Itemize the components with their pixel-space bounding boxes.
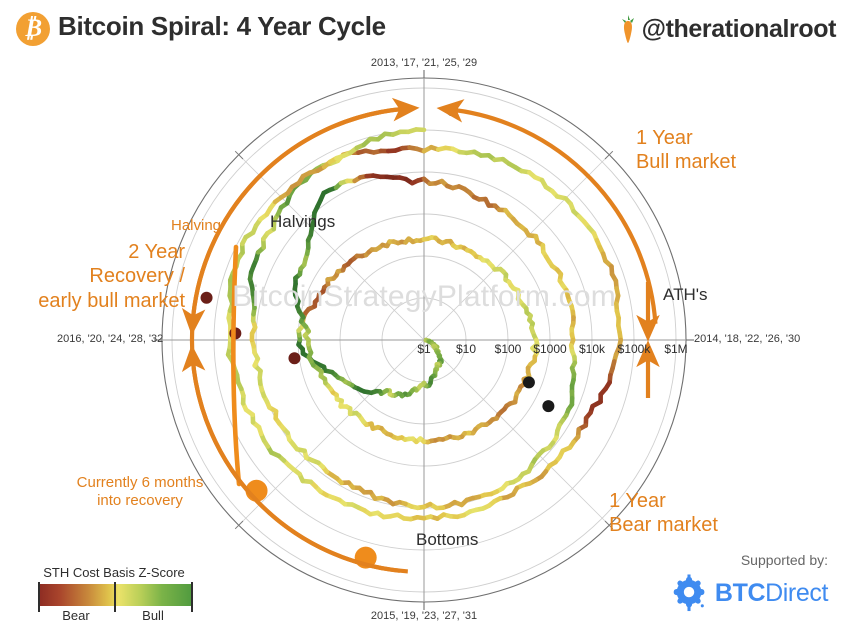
radial-tick-1M: $1M (664, 342, 687, 356)
angular-tick-2013: 2013, '17, '21, '25, '29 (371, 57, 477, 70)
annotation-bear-line1: 1 Year (609, 489, 718, 513)
radial-tick-100k: $100k (618, 342, 651, 356)
color-legend: STH Cost Basis Z-Score Bear Bull (30, 565, 230, 620)
supported-by-block: Supported by: BTCDirect (670, 552, 828, 612)
radial-tick-100: $100 (495, 342, 522, 356)
annotation-bull-line1: 1 Year (636, 126, 736, 150)
btcdirect-icon (670, 574, 708, 612)
annotation-bull-line2: Bull market (636, 150, 736, 174)
marker-halving-3 (523, 376, 535, 388)
legend-tick-left (38, 582, 40, 612)
angular-tick-2014: 2014, '18, '22, '26, '30 (694, 333, 800, 346)
annotation-bull-market: 1 Year Bull market (636, 126, 736, 175)
annotation-current-line2: into recovery (60, 492, 220, 510)
angular-tick-2015: 2015, '19, '23, '27, '31 (371, 610, 477, 623)
legend-label-bear: Bear (62, 608, 89, 623)
legend-title: STH Cost Basis Z-Score (34, 565, 194, 580)
radial-tick-10: $10 (456, 342, 476, 356)
angular-tick-2016: 2016, '20, '24, '28, '32 (57, 333, 163, 346)
marker-halving-2 (542, 400, 554, 412)
annotation-recovery-line2: Recovery / (10, 264, 185, 288)
legend-label-bull: Bull (142, 608, 164, 623)
label-halvings: Halvings (270, 212, 335, 233)
annotation-current-line1: Currently 6 months (60, 474, 220, 492)
halving-to-current-connector (233, 247, 239, 484)
marker-bottom-3 (201, 292, 213, 304)
legend-tick-mid (114, 582, 116, 612)
annotation-halving: Halving (171, 217, 221, 235)
legend-gradient-wrap: Bear Bull (38, 584, 193, 620)
legend-tick-right (191, 582, 193, 612)
btcdirect-bold: BTC (715, 579, 765, 607)
supported-by-label: Supported by: (670, 552, 828, 568)
radial-tick-10k: $10k (579, 342, 605, 356)
marker-bottom-1 (288, 352, 300, 364)
annotation-bear-market: 1 Year Bear market (609, 489, 718, 538)
annotation-recovery-line1: 2 Year (10, 240, 185, 264)
btcdirect-logo[interactable]: BTCDirect (670, 574, 828, 612)
annotation-bear-line2: Bear market (609, 513, 718, 537)
annotation-recovery-line3: early bull market (10, 289, 185, 313)
btcdirect-light: Direct (765, 579, 828, 607)
radial-tick-1000: $1000 (533, 342, 566, 356)
label-aths: ATH's (663, 285, 707, 306)
btcdirect-wordmark: BTCDirect (715, 579, 828, 608)
label-bottoms: Bottoms (416, 530, 478, 551)
annotation-current-position: Currently 6 months into recovery (60, 474, 220, 511)
annotation-recovery: 2 Year Recovery / early bull market (10, 240, 185, 313)
radial-tick-1: $1 (417, 342, 430, 356)
